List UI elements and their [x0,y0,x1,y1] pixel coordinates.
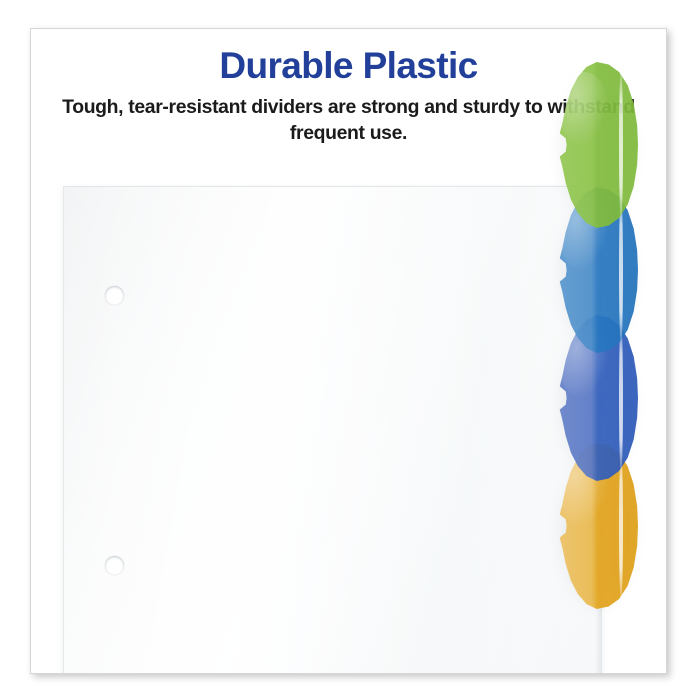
sheet-right-edge [595,187,602,674]
light-blue-tab-highlight [619,195,623,344]
bottom-punch-hole [105,556,124,575]
sheet-sheen-overlay [64,187,602,674]
page-title: Durable Plastic [31,45,666,86]
page-subtitle: Tough, tear-resistant dividers are stron… [55,95,642,146]
orange-tab-highlight [619,451,623,600]
product-card: Durable Plastic Tough, tear-resistant di… [30,28,667,674]
dark-blue-tab-highlight [619,323,623,472]
top-punch-hole [105,286,124,305]
header-block: Durable Plastic Tough, tear-resistant di… [31,29,666,147]
product-image-stage: Durable Plastic Tough, tear-resistant di… [0,0,700,700]
divider-sheet [63,186,602,674]
